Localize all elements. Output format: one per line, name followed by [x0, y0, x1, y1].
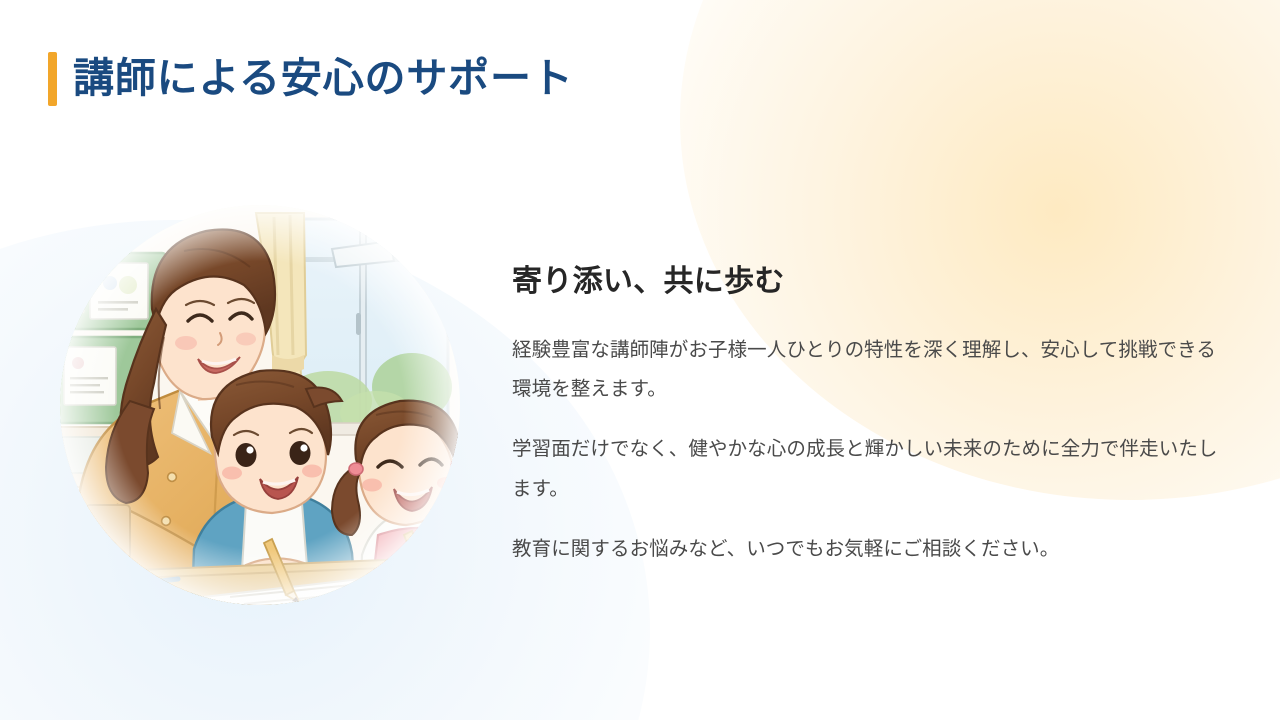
teacher-illustration: [60, 205, 460, 605]
title-accent-bar: [48, 52, 57, 106]
section-sub-heading: 寄り添い、共に歩む: [512, 263, 1224, 301]
page-title-text: 講師による安心のサポート: [73, 56, 574, 101]
body-paragraph-1: 経験豊富な講師陣がお子様一人ひとりの特性を深く理解し、安心して挑戦できる環境を整…: [512, 331, 1224, 411]
page-title: 講師による安心のサポート: [48, 52, 574, 106]
body-paragraph-3: 教育に関するお悩みなど、いつでもお気軽にご相談ください。: [512, 530, 1224, 570]
teacher-illustration-graphic: [60, 205, 460, 605]
slide-root: 講師による安心のサポート: [0, 0, 1280, 720]
text-column: 寄り添い、共に歩む 経験豊富な講師陣がお子様一人ひとりの特性を深く理解し、安心し…: [512, 263, 1224, 570]
body-paragraph-2: 学習面だけでなく、健やかな心の成長と輝かしい未来のために全力で伴走いたします。: [512, 430, 1224, 510]
